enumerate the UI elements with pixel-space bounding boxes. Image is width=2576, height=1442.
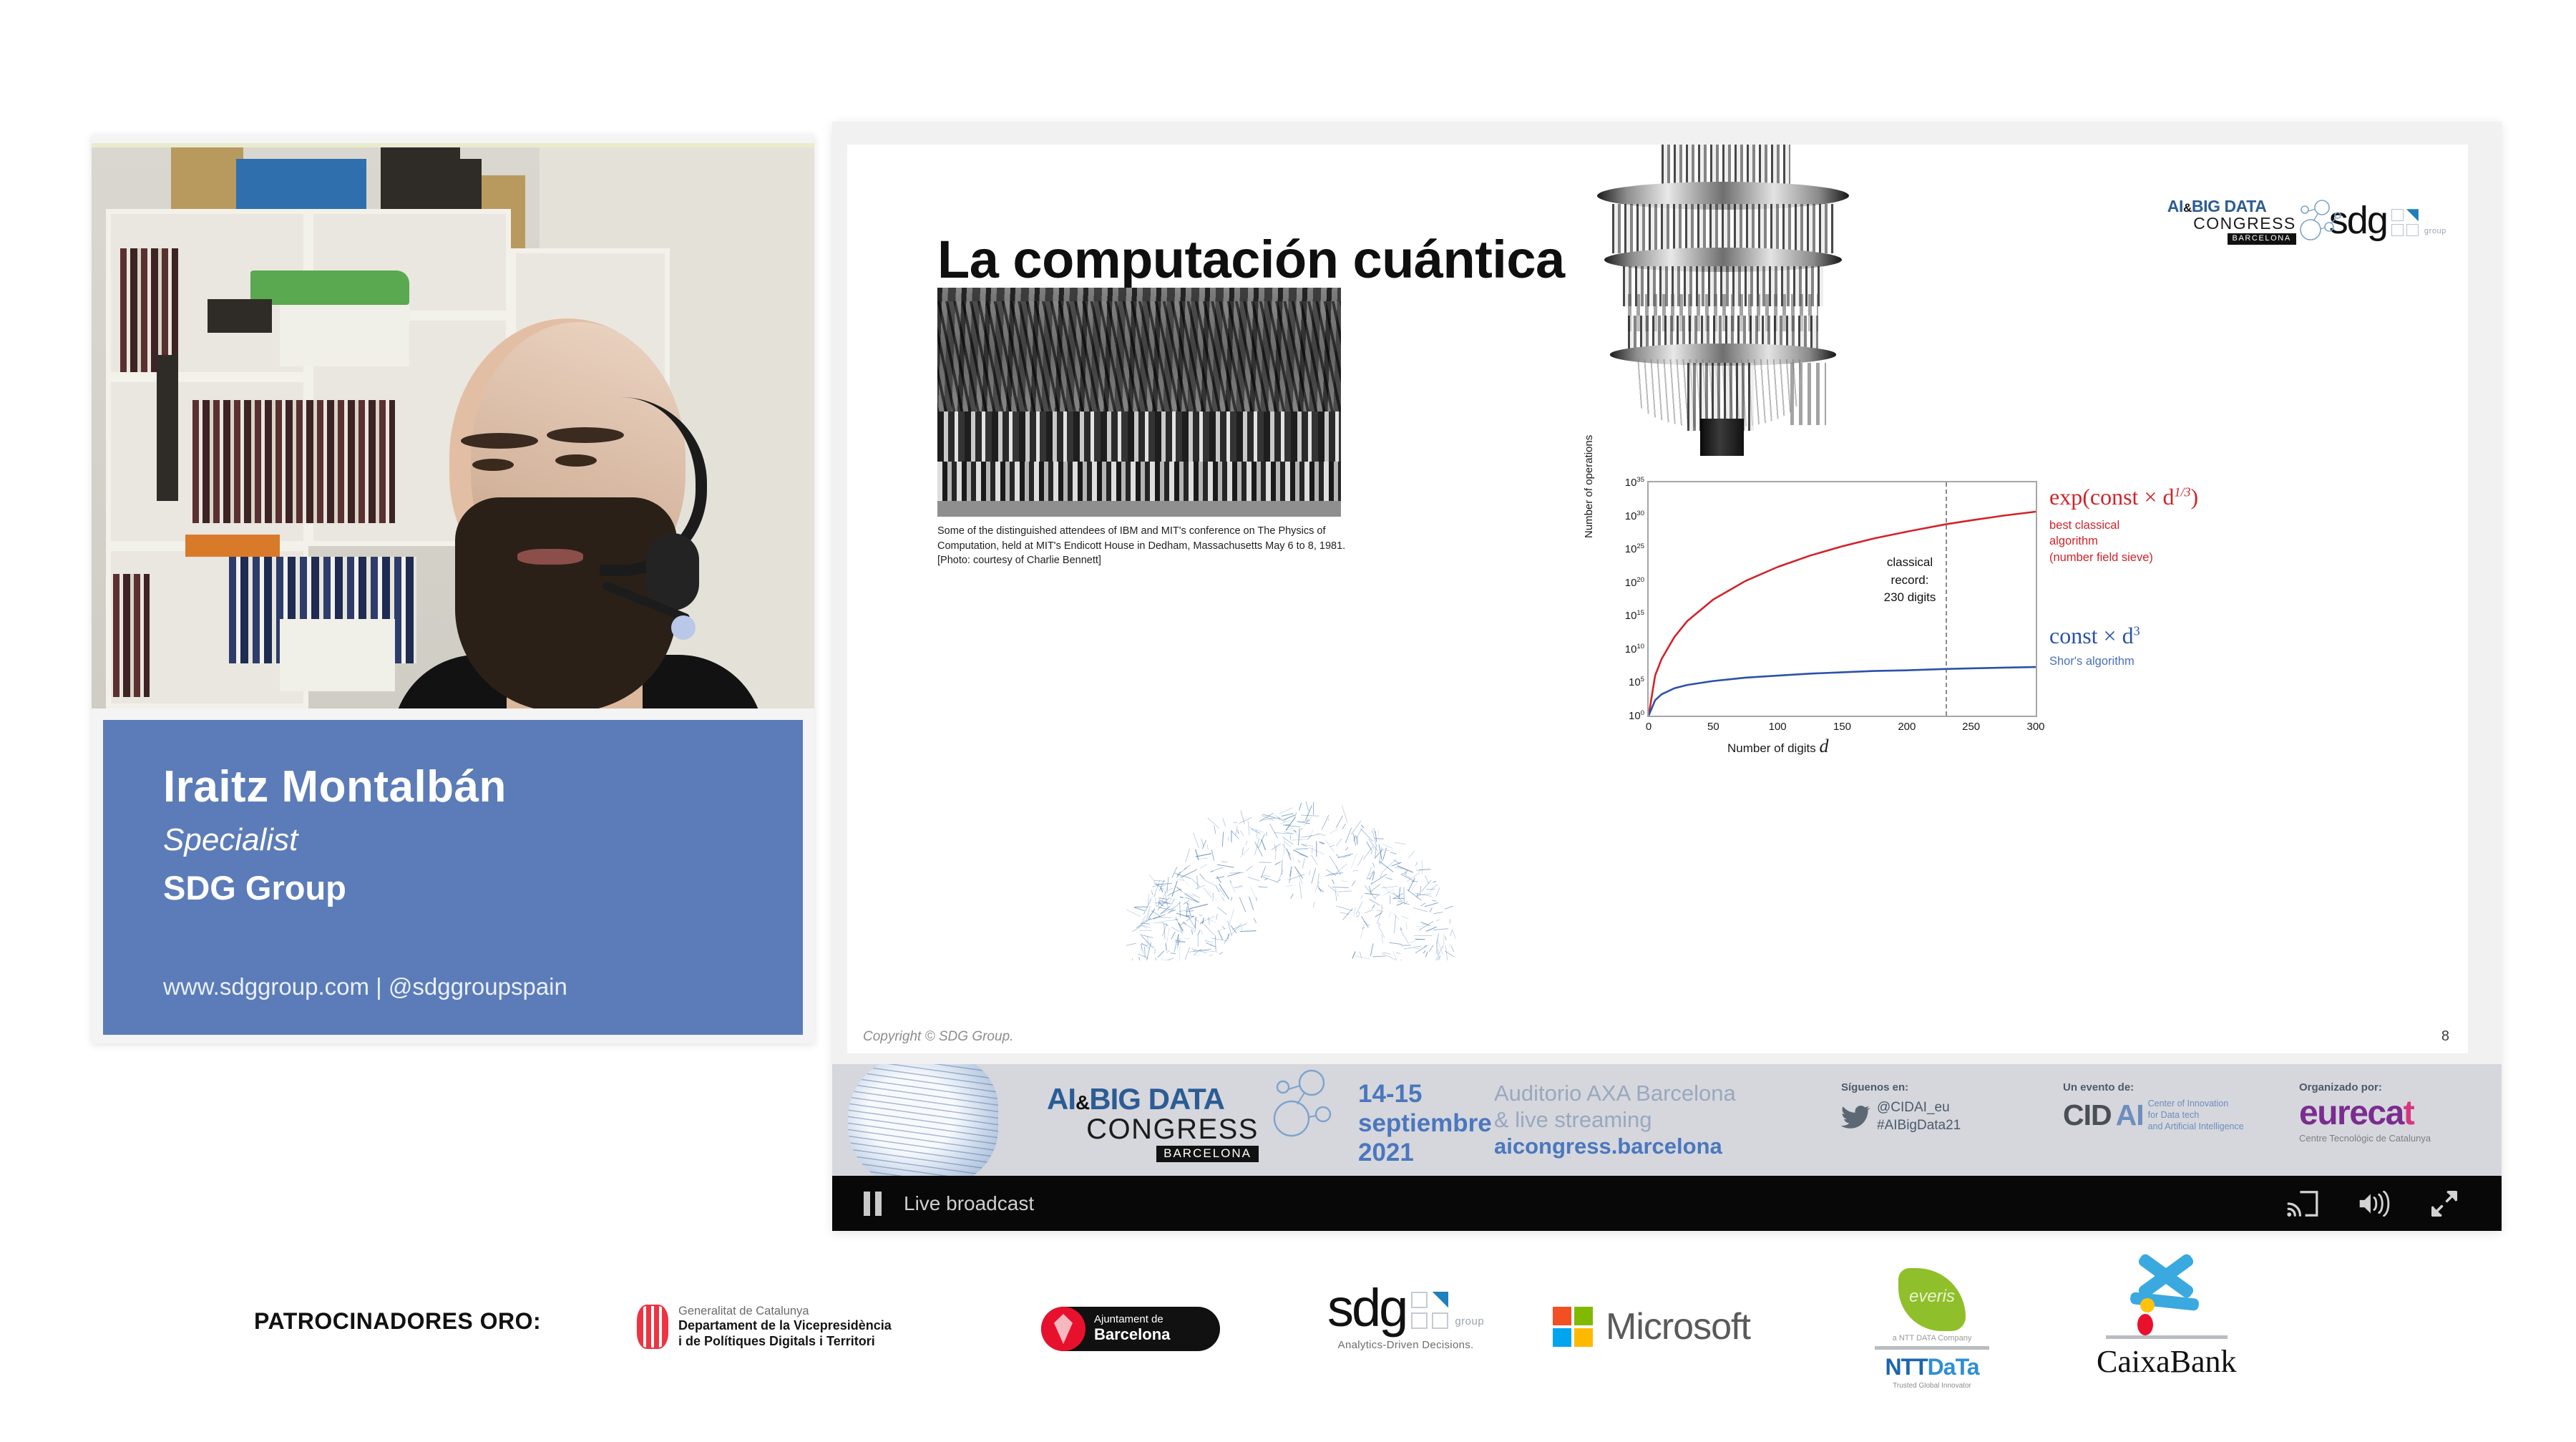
- logo-congress-text: CONGRESS: [2193, 214, 2296, 233]
- conference-photo: [937, 288, 1341, 517]
- chart-x-axis-label: Number of digits d: [1727, 736, 1829, 757]
- slide-copyright: Copyright © SDG Group.: [863, 1029, 1013, 1045]
- caixabank-star-icon: [2127, 1267, 2206, 1333]
- sdg-group-label: group: [2424, 227, 2446, 235]
- sponsor-logo-ajuntament: Ajuntament de Barcelona: [1041, 1307, 1220, 1351]
- chart-curves: [1649, 482, 2036, 716]
- chart-annotation-record: classicalrecord:230 digits: [1856, 554, 1963, 607]
- chart-y-axis-label: Number of operations: [1583, 435, 1595, 538]
- everis-wordmark: everis: [1898, 1287, 1966, 1307]
- slide-page-number: 8: [2441, 1028, 2449, 1045]
- generalitat-flag-icon: [637, 1305, 668, 1349]
- sdg-squares-icon-sponsor: [1411, 1292, 1450, 1330]
- generalitat-line2: Departament de la Vicepresidència: [678, 1318, 892, 1334]
- fullscreen-icon[interactable]: [2430, 1191, 2459, 1217]
- sponsor-logo-caixabank: CaixaBank: [2097, 1267, 2237, 1380]
- live-status-label: Live broadcast: [904, 1192, 1034, 1215]
- headset-mic-tip: [671, 615, 696, 640]
- sponsor-logo-ntt-data: everis a NTT DATA Company NTTDaTa Truste…: [1875, 1268, 1989, 1390]
- sponsor-bar: PATROCINADORES ORO: Generalitat de Catal…: [0, 1260, 2576, 1410]
- banner-event-dates: 14-15 septiembre 2021: [1358, 1080, 1492, 1168]
- sponsor-bar-title: PATROCINADORES ORO:: [254, 1308, 541, 1335]
- congress-banner: AI&BIG DATA CONGRESSBARCELONA 14-15 sept…: [832, 1064, 2502, 1176]
- speaker-name: Iraitz Montalbán: [163, 761, 803, 812]
- sponsor-logo-generalitat: Generalitat de Catalunya Departament de …: [637, 1304, 892, 1350]
- banner-event-by: Un evento de: CIDAI Center of Innovation…: [2063, 1081, 2244, 1132]
- sdg-group-logo: sdg group: [2329, 205, 2446, 238]
- headset-earcup: [646, 533, 699, 610]
- webcam-video[interactable]: [92, 143, 814, 708]
- barcelona-crest-icon: [1041, 1307, 1085, 1351]
- cast-icon[interactable]: [2287, 1191, 2318, 1217]
- photo-caption: Some of the distinguished attendees of I…: [937, 524, 1367, 568]
- banner-venue: Auditorio AXA Barcelona & live streaming…: [1494, 1080, 1736, 1160]
- sdg-wordmark-sponsor: sdg: [1327, 1287, 1406, 1330]
- banner-face-graphic: [848, 1064, 998, 1176]
- complexity-chart: Number of operations 1035 1030 1025 1020…: [1591, 459, 2450, 767]
- banner-congress-logo: AI&BIG DATA CONGRESSBARCELONA: [1047, 1084, 1304, 1162]
- microsoft-wordmark: Microsoft: [1606, 1305, 1750, 1348]
- speaker-organization: SDG Group: [163, 868, 803, 907]
- pause-icon[interactable]: [864, 1192, 882, 1216]
- everis-leaf-icon: everis: [1898, 1268, 1966, 1331]
- ntt-tagline: Trusted Global Innovator: [1875, 1382, 1989, 1390]
- logo-barcelona-tag: BARCELONA: [2228, 233, 2296, 245]
- wireframe-dome-graphic: [1126, 724, 1463, 960]
- logo-ai-text: AI: [2167, 197, 2183, 215]
- video-player[interactable]: La computación cuántica AI&BIG DATA CONG…: [832, 122, 2502, 1231]
- quantum-computer-photo: [1594, 145, 1852, 456]
- sponsor-logo-microsoft: Microsoft: [1553, 1305, 1750, 1348]
- twitter-icon: [1841, 1105, 1870, 1129]
- generalitat-line3: i de Polítiques Digitals i Territori: [678, 1334, 892, 1350]
- ntt-company-line: a NTT DATA Company: [1875, 1334, 1989, 1343]
- chart-legend-classical: exp(const × d1/3) best classical algorit…: [2049, 484, 2198, 565]
- molecule-icon: [2293, 200, 2343, 243]
- microsoft-squares-icon: [1553, 1307, 1593, 1347]
- banner-organized-by: Organizado por: eurecat Centre Tecnològi…: [2299, 1081, 2431, 1144]
- speaker-name-card: Iraitz Montalbán Specialist SDG Group ww…: [103, 720, 803, 1035]
- speaker-role: Specialist: [163, 822, 803, 858]
- sdg-squares-icon: [2391, 209, 2420, 238]
- caixabank-wordmark: CaixaBank: [2097, 1343, 2237, 1380]
- ajuntament-line1: Ajuntament de: [1094, 1314, 1170, 1326]
- page-title: La computación cuántica: [937, 229, 1565, 290]
- sponsor-logo-sdg: sdg group Analytics-Driven Decisions.: [1327, 1287, 1484, 1351]
- slide-header-logos: AI&BIG DATA CONGRESS BARCELONA: [2167, 198, 2446, 245]
- player-control-bar[interactable]: Live broadcast: [832, 1176, 2502, 1231]
- banner-social: Síguenos en: @CIDAI_eu #AIBigData21: [1841, 1081, 1961, 1134]
- chart-legend-shor: const × d3 Shor's algorithm: [2049, 623, 2140, 668]
- sdg-tagline: Analytics-Driven Decisions.: [1327, 1339, 1484, 1351]
- presentation-slide: La computación cuántica AI&BIG DATA CONG…: [847, 145, 2468, 1053]
- sdg-group-label-sponsor: group: [1455, 1315, 1484, 1327]
- logo-bigdata-text: BIG DATA: [2192, 197, 2267, 215]
- ajuntament-line2: Barcelona: [1094, 1326, 1170, 1344]
- lips: [517, 549, 583, 565]
- speaker-links: www.sdggroup.com | @sdggroupspain: [163, 973, 567, 1000]
- screen: Iraitz Montalbán Specialist SDG Group ww…: [0, 0, 2576, 1442]
- speaker-webcam-panel: Iraitz Montalbán Specialist SDG Group ww…: [92, 135, 814, 1043]
- speaker-figure: [364, 318, 764, 708]
- generalitat-line1: Generalitat de Catalunya: [678, 1304, 892, 1318]
- chart-plot-area: 1035 1030 1025 1020 1015 1010 105 100 0 …: [1647, 481, 2037, 717]
- volume-icon[interactable]: [2358, 1191, 2390, 1217]
- ai-bigdata-congress-logo: AI&BIG DATA CONGRESS BARCELONA: [2167, 198, 2296, 245]
- logo-amp: &: [2183, 201, 2192, 215]
